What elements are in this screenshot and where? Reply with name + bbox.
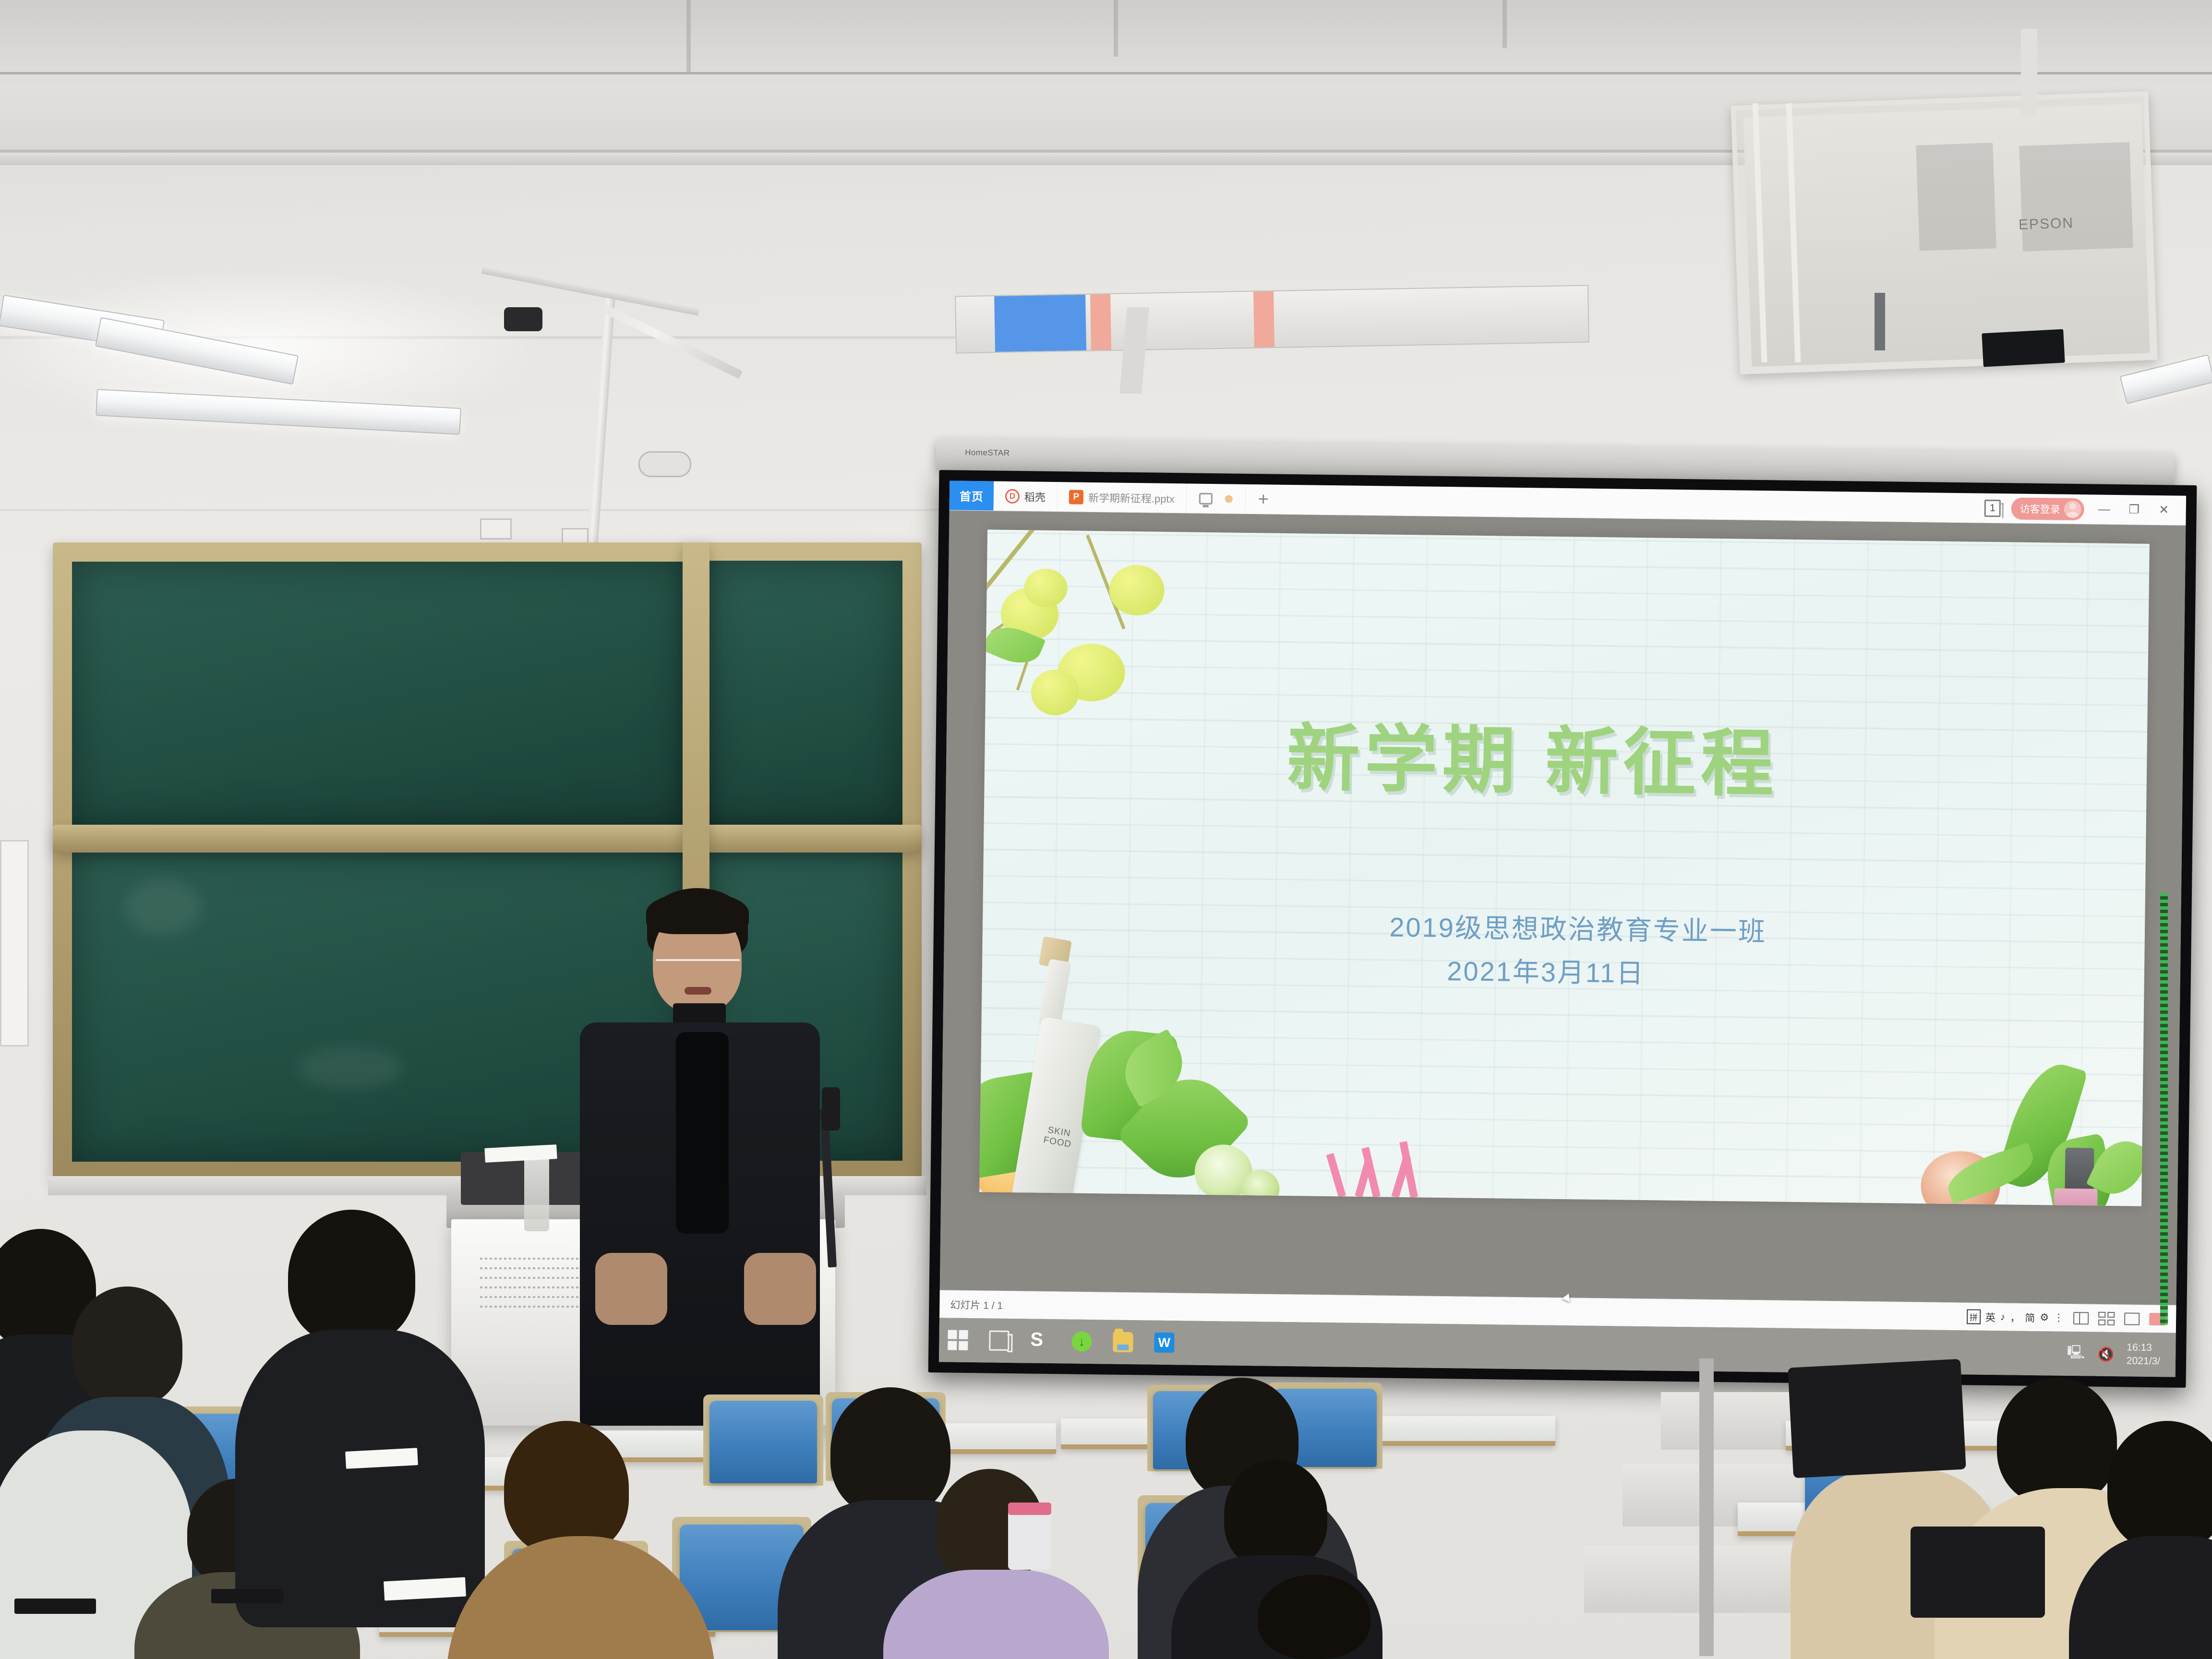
normal-view-icon[interactable] xyxy=(2073,1312,2089,1324)
student-head xyxy=(830,1387,950,1516)
student-head xyxy=(288,1210,415,1344)
status-bar-right: 拼 英 ♪ ， 简 ⚙ ⋮ xyxy=(1967,1309,2166,1326)
new-tab-area: + xyxy=(1245,484,1281,514)
flower-cluster xyxy=(1024,568,1068,607)
sogou-input-icon[interactable]: S xyxy=(1030,1331,1051,1352)
drink-cup-lid xyxy=(1008,1503,1051,1515)
avatar xyxy=(2064,500,2081,517)
gear-icon[interactable]: ⚙ xyxy=(2040,1311,2049,1323)
presenter xyxy=(566,888,864,1426)
drink-cup xyxy=(1008,1507,1051,1570)
aisle-railing xyxy=(1699,1358,1714,1656)
blackboard-divider xyxy=(53,825,922,853)
ime-note-icon[interactable]: ♪ xyxy=(2000,1311,2006,1323)
document-count-badge[interactable]: 1 xyxy=(1984,499,2001,517)
volume-muted-icon[interactable]: 🔇 xyxy=(2097,1346,2114,1362)
guest-login-label: 访客登录 xyxy=(2020,501,2060,516)
wall-switch xyxy=(480,518,512,540)
minimize-button[interactable]: — xyxy=(2095,503,2114,515)
ceiling-panel-line xyxy=(1503,0,1507,48)
presenter-hand-left xyxy=(595,1253,667,1325)
projector-mount-rod xyxy=(2021,29,2037,115)
projected-desktop: 首页 D 稻壳 P 新学期新征程.pptx + xyxy=(939,481,2186,1377)
projector-lens xyxy=(1982,329,2065,367)
ime-simplified-toggle[interactable]: 简 xyxy=(2025,1310,2035,1324)
monitor-icon[interactable] xyxy=(1199,493,1212,504)
screen-brand-label: HomeSTAR xyxy=(965,448,1010,458)
ime-more-icon[interactable]: ⋮ xyxy=(2054,1312,2064,1324)
blackboard-panel-upper-right xyxy=(706,561,902,826)
tab-presentation-label: 新学期新征程.pptx xyxy=(1088,489,1175,505)
docer-icon: D xyxy=(1005,489,1020,503)
tab-docer[interactable]: D 稻壳 xyxy=(994,481,1058,511)
slide-counter: 幻灯片 1 / 1 xyxy=(950,1297,1003,1312)
banner-block-blue xyxy=(994,295,1086,352)
tab-home[interactable]: 首页 xyxy=(950,481,994,510)
start-button[interactable] xyxy=(948,1330,968,1350)
slide-subtitle-date: 2021年3月11日 xyxy=(1447,950,1645,991)
ceiling-seam xyxy=(0,72,2212,74)
close-button[interactable]: ✕ xyxy=(2154,504,2174,516)
ceiling-panel-line xyxy=(686,0,691,72)
security-camera xyxy=(504,307,542,331)
presenter-coat-lapel xyxy=(676,1032,729,1234)
student-head xyxy=(1224,1459,1327,1570)
presenter-mouth xyxy=(685,987,711,995)
phone-on-desk xyxy=(211,1589,283,1603)
projector-bolt xyxy=(1875,293,1885,350)
chalk-smudge xyxy=(125,878,202,936)
system-tray: 🖳 🔇 16:13 2021/3/ xyxy=(2067,1340,2167,1369)
wps-office-window: 首页 D 稻壳 P 新学期新征程.pptx + xyxy=(939,481,2186,1377)
motion-sensor xyxy=(638,451,691,477)
orange-dot-icon[interactable] xyxy=(1225,495,1233,503)
banner-block-pink xyxy=(1090,294,1111,350)
download-manager-icon[interactable]: ↓ xyxy=(1071,1332,1092,1352)
screen-bezel: 首页 D 稻壳 P 新学期新征程.pptx + xyxy=(928,470,2197,1388)
side-whiteboard xyxy=(0,840,29,1046)
student-head xyxy=(1997,1378,2117,1505)
wall-band xyxy=(0,509,950,511)
slide-workspace: 新学期 新征程 2019级思想政治教育专业一班 2021年3月11日 SKIN … xyxy=(940,510,2186,1305)
ime-punctuation-toggle[interactable]: ， xyxy=(2010,1310,2020,1324)
tabbar-tools xyxy=(1186,483,1245,513)
guest-login-button[interactable]: 访客登录 xyxy=(2011,497,2084,520)
flower-cluster xyxy=(1109,565,1165,615)
chalk-smudge xyxy=(298,1046,403,1090)
sogou-ime-toolbar[interactable]: 拼 英 ♪ ， 简 ⚙ ⋮ xyxy=(1967,1309,2064,1325)
student-head xyxy=(72,1286,182,1407)
tab-docer-label: 稻壳 xyxy=(1024,489,1046,505)
eyeglasses xyxy=(656,959,740,972)
lecture-chair[interactable] xyxy=(709,1401,817,1483)
restore-button[interactable]: ❐ xyxy=(2125,504,2144,516)
reading-view-icon[interactable] xyxy=(2124,1312,2140,1325)
banner-block-pink xyxy=(1253,291,1274,348)
fruit-slice xyxy=(1241,1170,1280,1206)
network-icon[interactable]: 🖳 xyxy=(2067,1342,2085,1365)
slide-sorter-icon[interactable] xyxy=(2098,1311,2115,1325)
tab-home-label: 首页 xyxy=(960,487,984,505)
handbag xyxy=(1911,1527,2045,1618)
wps-office-icon[interactable]: W xyxy=(1154,1333,1175,1353)
phone-on-desk xyxy=(14,1599,96,1614)
ceiling-panel-line xyxy=(1114,0,1118,57)
blackboard-panel-upper-left xyxy=(72,562,686,826)
water-bottle xyxy=(524,1150,549,1231)
wall-banner xyxy=(955,285,1589,353)
backpack xyxy=(1788,1359,1966,1479)
presentation-slide[interactable]: 新学期 新征程 2019级思想政治教育专业一班 2021年3月11日 SKIN … xyxy=(979,529,2150,1206)
file-explorer-icon[interactable] xyxy=(1113,1332,1133,1353)
presenter-hand-right xyxy=(744,1253,816,1325)
task-view-button[interactable] xyxy=(989,1330,1010,1351)
tab-presentation-file[interactable]: P 新学期新征程.pptx xyxy=(1058,482,1187,513)
ime-pinyin-icon[interactable]: 拼 xyxy=(1967,1309,1981,1324)
clock-date: 2021/3/ xyxy=(2127,1355,2160,1367)
ime-language-toggle[interactable]: 英 xyxy=(1985,1310,1996,1324)
slide-subtitle-class: 2019级思想政治教育专业一班 xyxy=(1389,906,1767,950)
screen-side-led-strip xyxy=(2160,893,2168,1325)
pink-bottle xyxy=(2054,1189,2098,1206)
student-head xyxy=(504,1421,629,1555)
new-tab-button[interactable]: + xyxy=(1258,490,1269,508)
clock-time: 16:13 xyxy=(2127,1342,2152,1353)
lecture-hall-scene: EPSON HomeSTAR 首页 D 稻壳 xyxy=(0,0,2212,1659)
powerpoint-icon: P xyxy=(1069,490,1083,504)
presenter-hair-top xyxy=(646,892,749,934)
window-controls: 1 访客登录 — ❐ ✕ xyxy=(1984,493,2186,525)
student-head xyxy=(1258,1575,1370,1659)
slide-title: 新学期 新征程 xyxy=(1286,699,1779,810)
taskbar-clock[interactable]: 16:13 2021/3/ xyxy=(2127,1341,2161,1369)
flower-cluster xyxy=(1031,669,1079,715)
